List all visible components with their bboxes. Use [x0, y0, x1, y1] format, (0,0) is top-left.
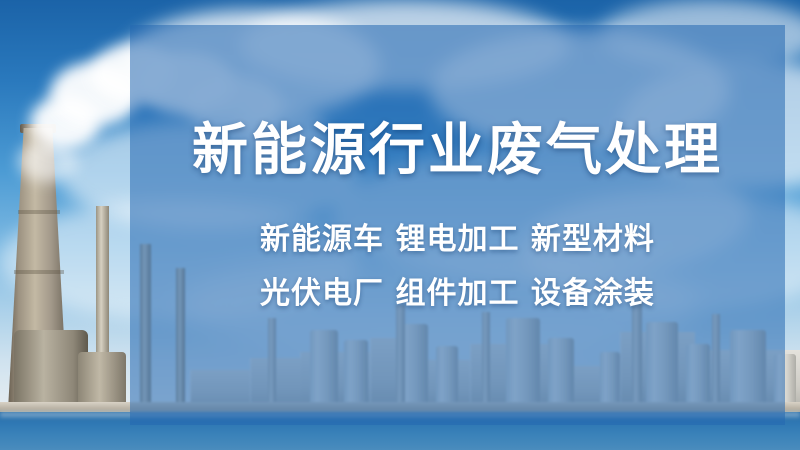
subtitle-line-2: 光伏电厂 组件加工 设备涂装	[260, 279, 655, 309]
banner: 新能源行业废气处理 新能源车 锂电加工 新型材料 光伏电厂 组件加工 设备涂装	[0, 0, 800, 450]
scrubber-unit	[14, 330, 88, 410]
page-title: 新能源行业废气处理	[192, 123, 723, 179]
banner-text-block: 新能源行业废气处理 新能源车 锂电加工 新型材料 光伏电厂 组件加工 设备涂装	[130, 25, 785, 425]
smokestack-band	[14, 270, 64, 274]
subtitle-line-1: 新能源车 锂电加工 新型材料	[260, 225, 655, 255]
smokestack-band	[18, 210, 60, 214]
